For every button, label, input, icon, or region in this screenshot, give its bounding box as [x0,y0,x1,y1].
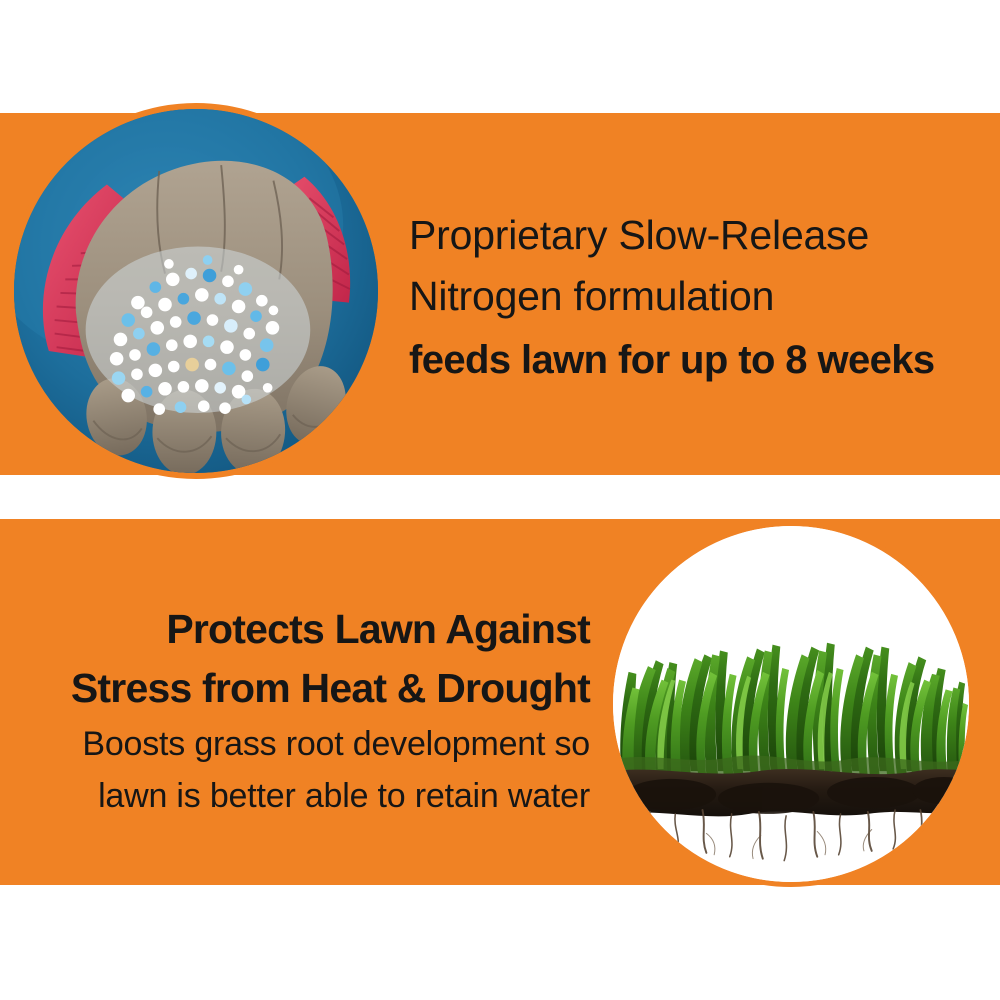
headline-line-1: Proprietary Slow-Release [409,205,935,266]
fertilizer-granules-in-gloved-hand-photo [8,103,384,479]
heat-drought-copy-block: Protects Lawn Against Stress from Heat &… [0,600,590,822]
fertilizer-photo-illustration [14,109,378,473]
grass-photo-illustration [613,526,969,882]
headline-line-2: Nitrogen formulation [409,266,935,327]
emphasis-line: feeds lawn for up to 8 weeks [409,327,935,393]
headline-line-2: Stress from Heat & Drought [0,659,590,718]
slow-release-copy-block: Proprietary Slow-Release Nitrogen formul… [409,205,935,393]
subcopy-line-2: lawn is better able to retain water [0,770,590,822]
subcopy-line-1: Boosts grass root development so [0,718,590,770]
infographic-canvas: Proprietary Slow-Release Nitrogen formul… [0,0,1000,1000]
headline-line-1: Protects Lawn Against [0,600,590,659]
grass-with-roots-and-soil-photo [608,521,974,887]
